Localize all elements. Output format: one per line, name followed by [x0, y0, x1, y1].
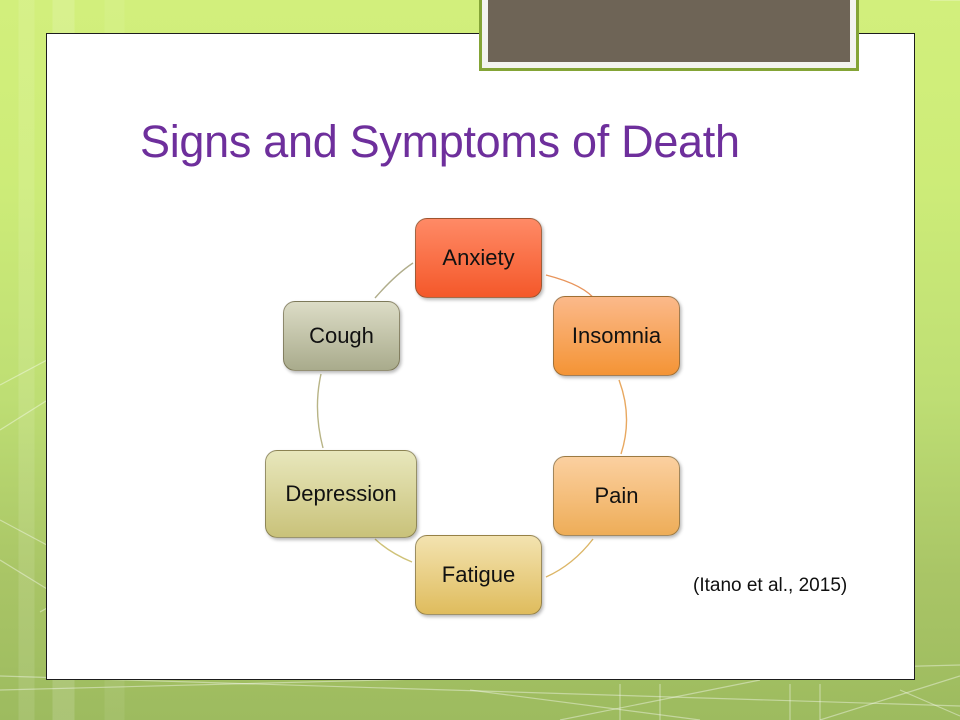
- header-image-fill: [488, 0, 850, 62]
- connector-cough-anxiety: [375, 263, 413, 298]
- cycle-node-fatigue[interactable]: Fatigue: [415, 535, 542, 615]
- connector-insomnia-pain: [619, 380, 627, 454]
- header-image-placeholder: [479, 0, 859, 71]
- page-title: Signs and Symptoms of Death: [140, 116, 740, 168]
- connector-pain-fatigue: [546, 539, 593, 577]
- cycle-node-anxiety[interactable]: Anxiety: [415, 218, 542, 298]
- cycle-node-depression[interactable]: Depression: [265, 450, 417, 538]
- cycle-node-cough[interactable]: Cough: [283, 301, 400, 371]
- connector-fatigue-depression: [375, 539, 412, 562]
- connector-depression-cough: [317, 374, 323, 448]
- cycle-node-insomnia[interactable]: Insomnia: [553, 296, 680, 376]
- cycle-node-pain[interactable]: Pain: [553, 456, 680, 536]
- source-citation: (Itano et al., 2015): [693, 575, 847, 597]
- presentation-slide: Signs and Symptoms of Death Anxiety Inso…: [0, 0, 960, 720]
- symptom-cycle-diagram: Anxiety Insomnia Pain Fatigue Depression…: [255, 205, 695, 625]
